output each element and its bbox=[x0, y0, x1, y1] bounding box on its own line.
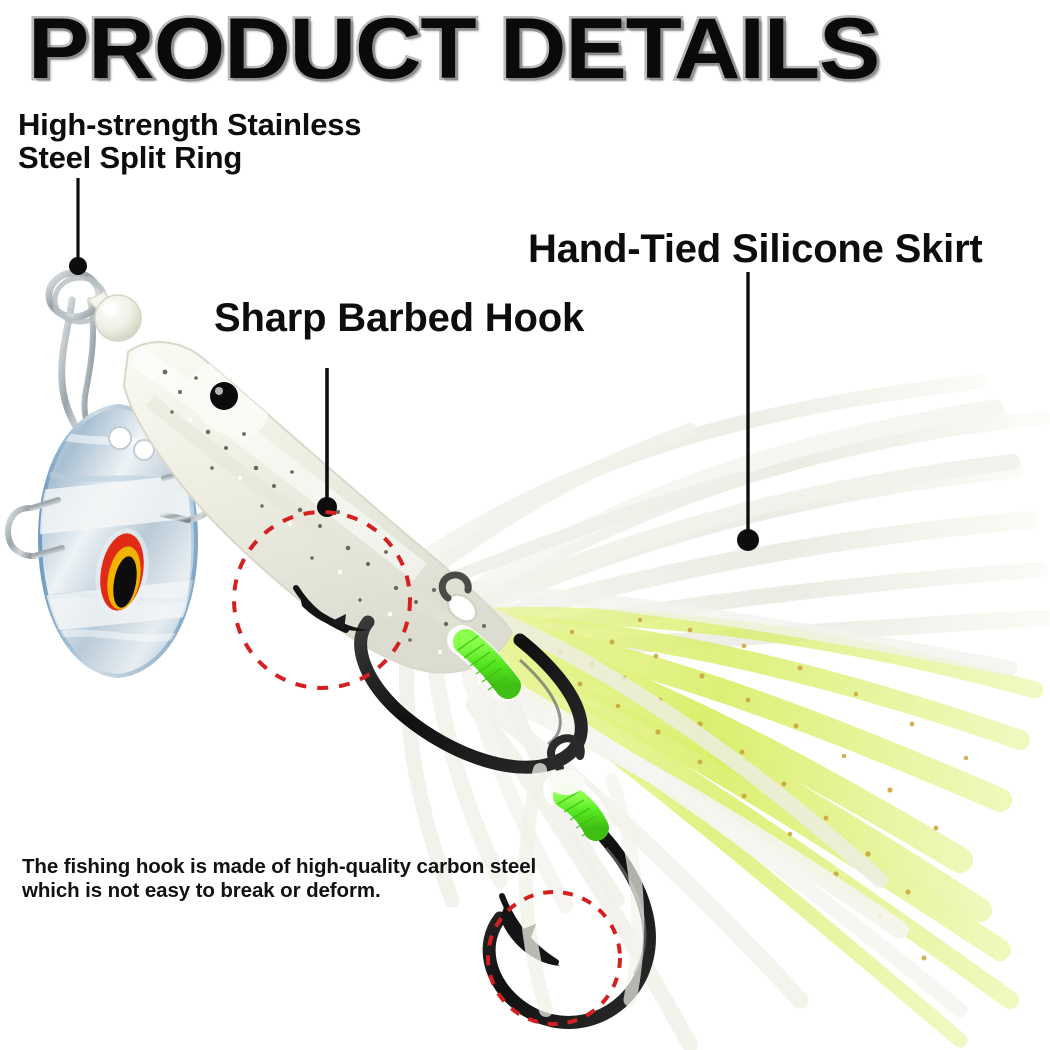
leader-line-split-ring bbox=[69, 178, 87, 275]
callout-overlay bbox=[0, 0, 1050, 1050]
product-details-image: PRODUCT DETAILS High-strength Stainless … bbox=[0, 0, 1050, 1050]
leader-line-barbed-hook bbox=[317, 368, 337, 517]
leader-line-silicone-skirt bbox=[737, 272, 759, 551]
highlight-circle-upper-hook-barb bbox=[234, 512, 410, 688]
highlight-circle-lower-hook-barb bbox=[488, 892, 620, 1024]
